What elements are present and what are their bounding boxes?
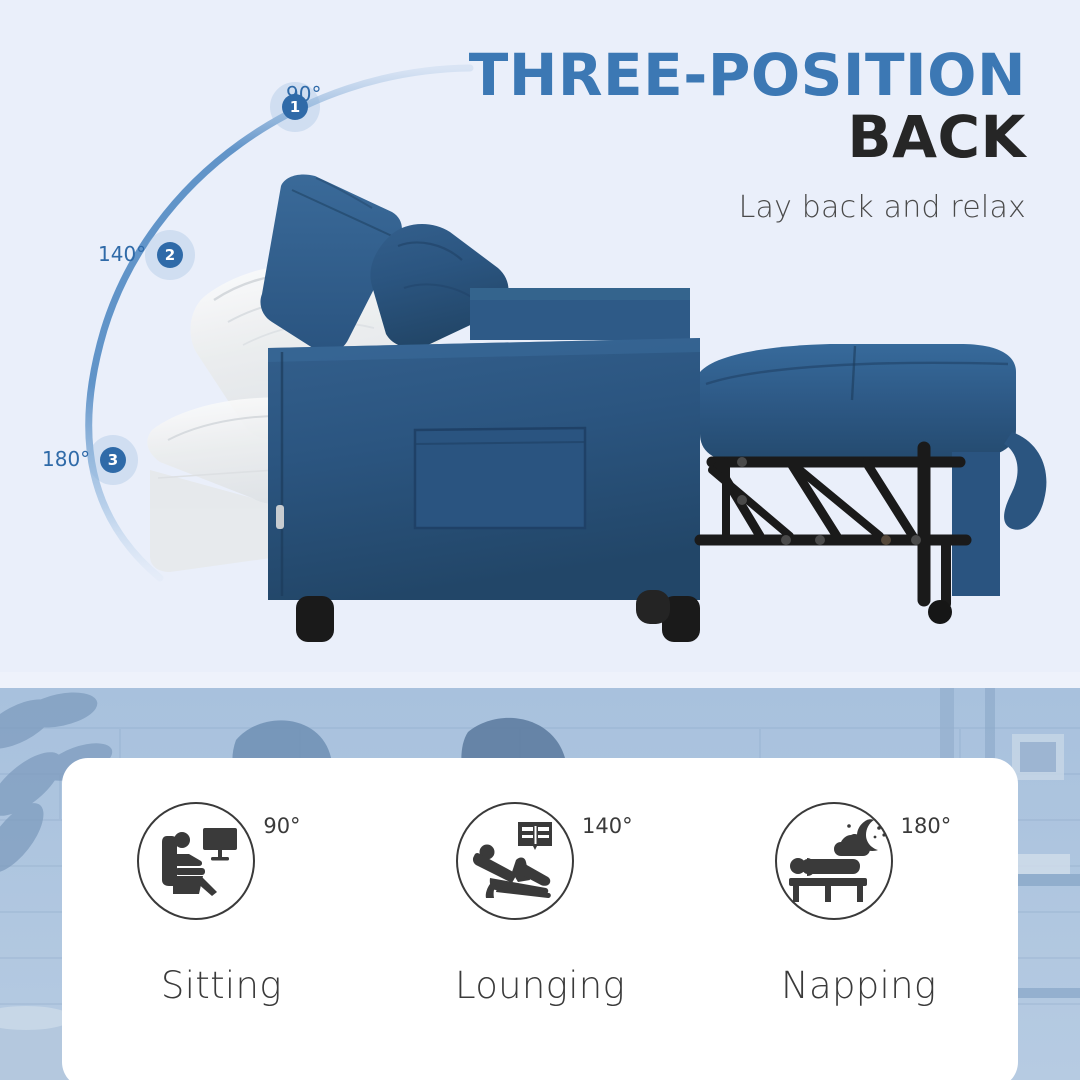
headline-block: THREE-POSITION BACK Lay back and relax [469,46,1026,225]
hero-panel: 1 90° 2 140° 3 180° THREE-POSITION BACK … [0,0,1080,672]
recline-angle-label-90: 90° [286,82,321,106]
icon-stack-lounging: 140° [440,802,640,922]
icon-stack-sitting: 90° [121,802,321,922]
feature-label-napping: Napping [781,964,936,1007]
armrest-rail [470,288,690,340]
person-sitting-watching-tv-icon [137,802,255,920]
feature-angle-napping: 180° [901,814,952,838]
feature-angle-sitting: 90° [263,814,300,838]
footrest-side-block [952,452,1000,596]
person-lounging-reading-icon [456,802,574,920]
feature-card: 90° Sitting [62,758,1018,1080]
lifestyle-panel: 90° Sitting [0,688,1080,1080]
recline-angle-label-180: 180° [42,447,90,471]
headline-secondary: BACK [469,107,1026,168]
headline-subtitle: Lay back and relax [469,190,1026,225]
feature-napping[interactable]: 180° Napping [699,758,1018,1080]
recline-marker-2[interactable]: 2 [157,242,183,268]
recliner-metal-mechanism [700,448,966,624]
section-divider [0,672,1080,688]
extended-footrest-cushion [700,344,1016,462]
zipper-pull [276,505,284,529]
person-napping-in-bed-icon [775,802,893,920]
feature-sitting[interactable]: 90° Sitting [62,758,381,1080]
pull-strap [1004,432,1046,530]
sofa-side-panel [268,338,700,600]
feature-angle-lounging: 140° [582,814,633,838]
feature-row: 90° Sitting [62,758,1018,1080]
headline-primary: THREE-POSITION [469,46,1026,105]
infographic-page: 1 90° 2 140° 3 180° THREE-POSITION BACK … [0,0,1080,1080]
recline-marker-3[interactable]: 3 [100,447,126,473]
feature-label-sitting: Sitting [161,964,282,1007]
feature-label-lounging: Lounging [455,964,625,1007]
icon-stack-napping: 180° [759,802,959,922]
recline-angle-label-140: 140° [98,242,146,266]
feature-lounging[interactable]: 140° Lounging [381,758,700,1080]
